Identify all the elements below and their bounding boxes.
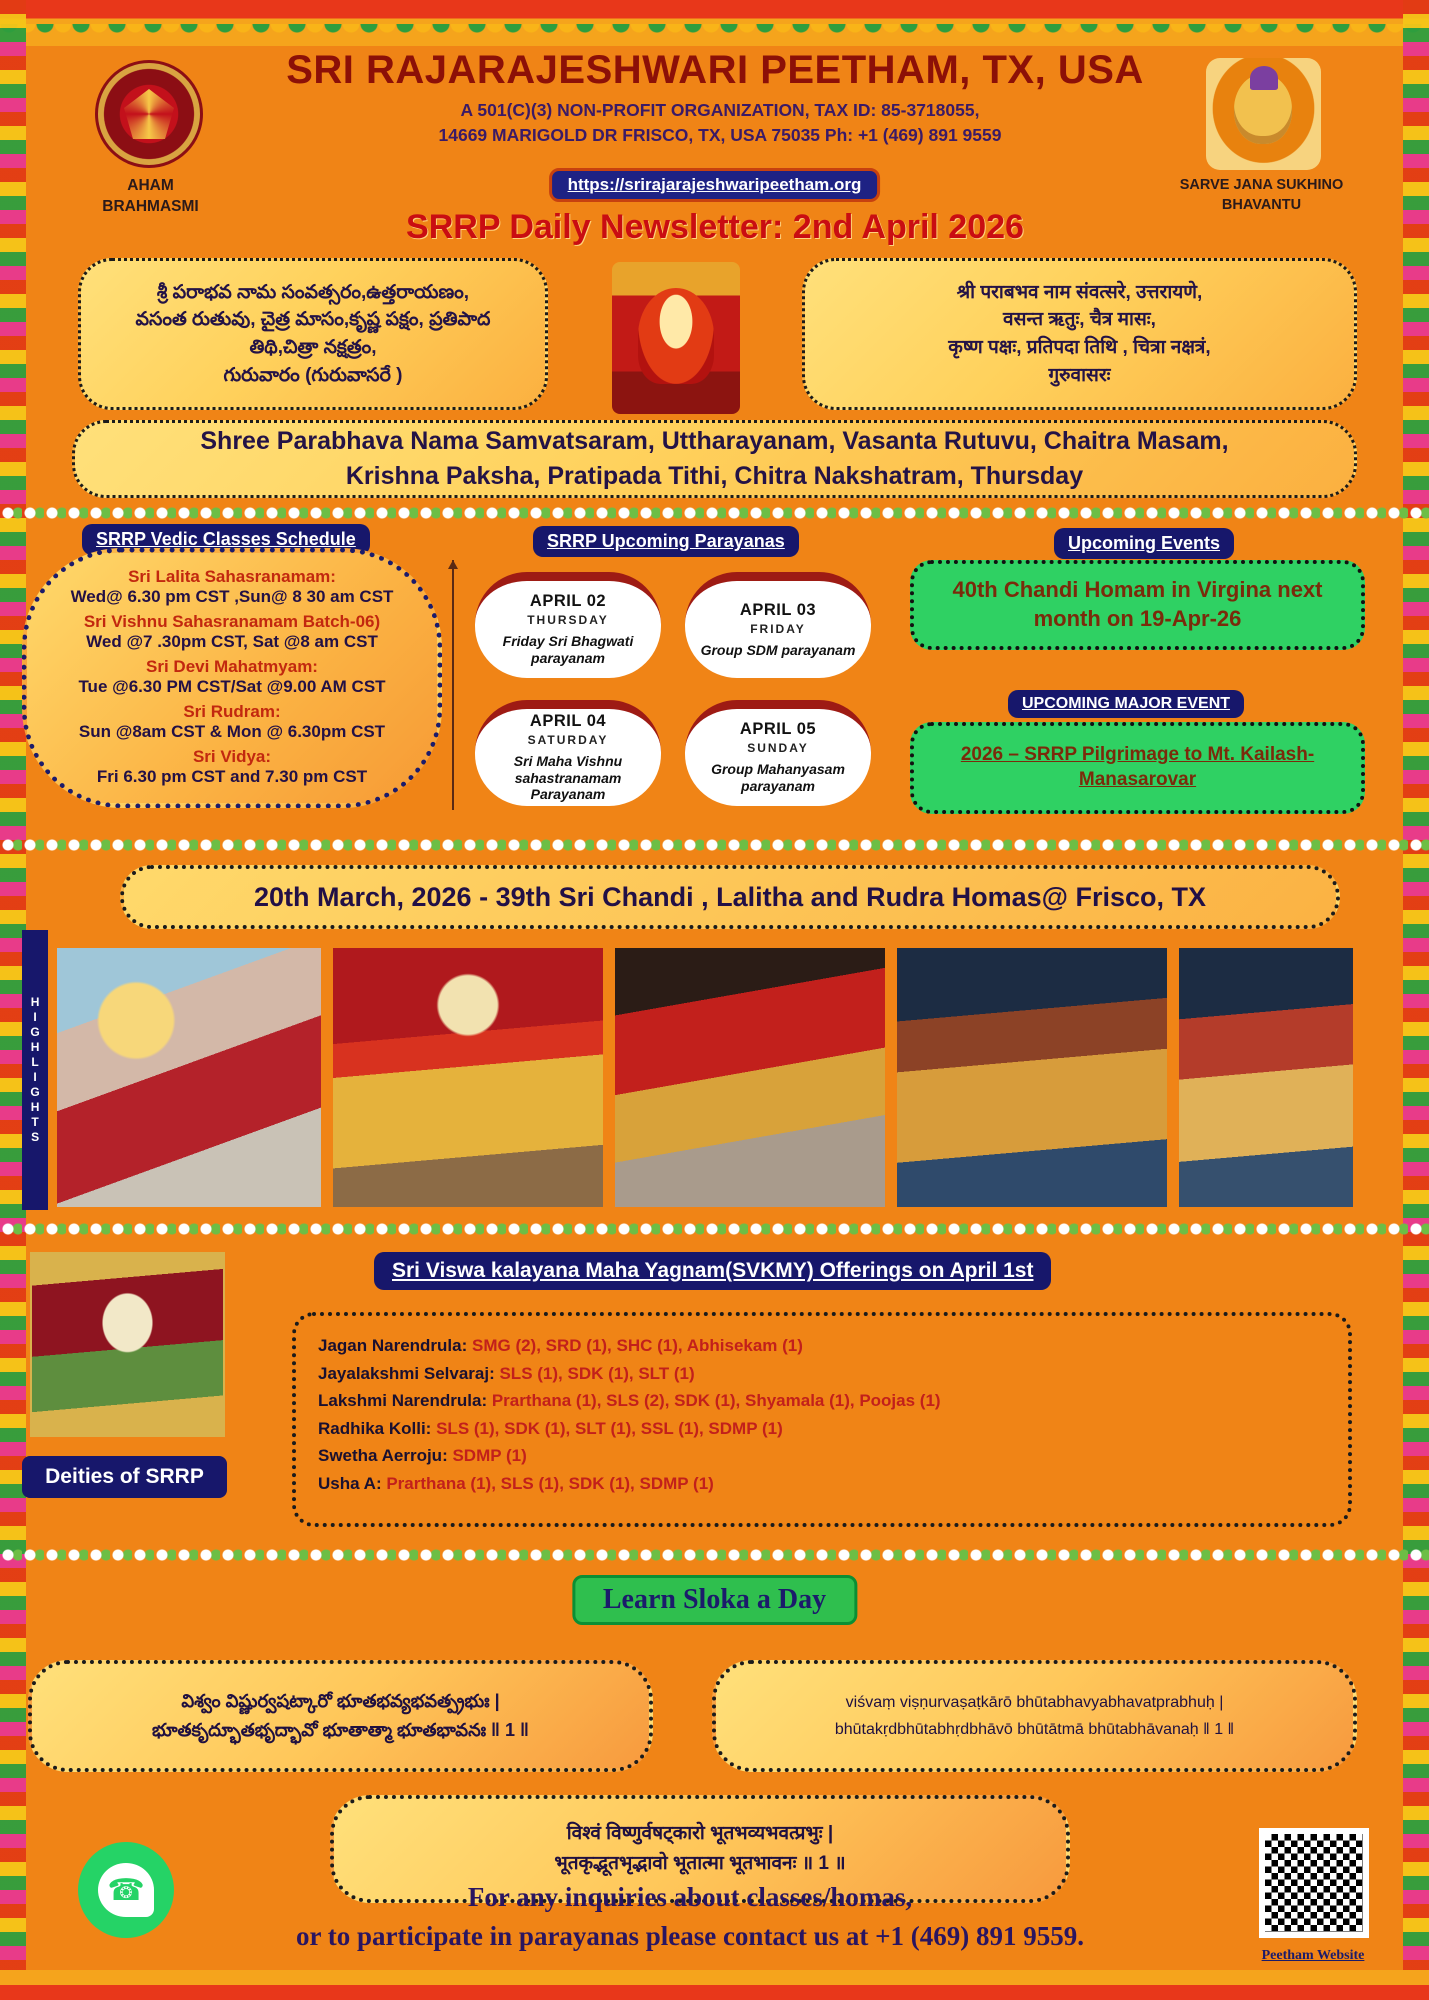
highlight-photo-5 — [1176, 945, 1356, 1210]
sloka-devanagari-line-1: विश्वं विष्णुर्वषट्कारो भूतभव्यभवत्प्रभु… — [567, 1819, 833, 1849]
top-toranam-decoration — [0, 0, 1429, 46]
telugu-line-3: తిథి,చిత్రా నక్షత్రం, — [136, 334, 491, 362]
vedic-item-1: Sri Vishnu Sahasranamam Batch-06) Wed @7… — [53, 612, 411, 652]
address-line: 14669 MARIGOLD DR FRISCO, TX, USA 75035 … — [200, 123, 1240, 148]
english-line-1: Shree Parabhava Nama Samvatsaram, Utthar… — [200, 424, 1228, 459]
offering-items-0: SMG (2), SRD (1), SHC (1), Abhisekam (1) — [472, 1336, 803, 1355]
newsletter-title: SRRP Daily Newsletter: 2nd April 2026 — [250, 208, 1180, 247]
parayana-day-1: FRIDAY — [750, 622, 806, 636]
parayana-date-0: APRIL 02 — [530, 592, 606, 611]
contact-line-2: or to participate in parayanas please co… — [190, 1917, 1190, 1956]
offering-name-2: Lakshmi Narendrula: — [318, 1391, 487, 1410]
panchangam-hindi-panel: श्री पराबभव नाम संवत्सरे, उत्तरायणे, वसन… — [802, 258, 1357, 410]
parayana-day-3: SUNDAY — [747, 741, 809, 755]
parayana-day-2: SATURDAY — [528, 733, 609, 747]
page-title: SRI RAJARAJESHWARI PEETHAM, TX, USA — [180, 48, 1250, 93]
english-line-2: Krishna Paksha, Pratipada Tithi, Chitra … — [200, 459, 1228, 494]
vedic-time-0: Wed@ 6.30 pm CST ,Sun@ 8 30 am CST — [53, 587, 411, 607]
sloka-roman-line-2: bhūtakṛdbhūtabhṛdbhāvō bhūtātmā bhūtabhā… — [835, 1716, 1234, 1743]
newsletter-page: AHAM BRAHMASMI SARVE JANA SUKHINO BHAVAN… — [0, 0, 1429, 2000]
flower-divider-4 — [0, 1548, 1429, 1563]
offering-row-4: Swetha Aerroju: SDMP (1) — [318, 1442, 1326, 1470]
highlight-photo-2 — [330, 945, 606, 1210]
highlights-banner: 20th March, 2026 - 39th Sri Chandi , Lal… — [120, 865, 1340, 929]
panchangam-english-panel: Shree Parabhava Nama Samvatsaram, Utthar… — [72, 420, 1357, 498]
parayana-section-divider — [452, 560, 454, 810]
highlights-side-text: HIGHLIGHTS — [27, 995, 43, 1145]
major-event-box[interactable]: 2026 – SRRP Pilgrimage to Mt. Kailash-Ma… — [910, 722, 1365, 814]
qr-code-label: Peetham Website — [1245, 1948, 1381, 1964]
offering-items-5: Prarthana (1), SLS (1), SDK (1), SDMP (1… — [386, 1474, 713, 1493]
svkmy-offerings-box: Jagan Narendrula: SMG (2), SRD (1), SHC … — [292, 1312, 1352, 1527]
vedic-time-2: Tue @6.30 PM CST/Sat @9.00 AM CST — [53, 677, 411, 697]
offering-items-4: SDMP (1) — [452, 1446, 526, 1465]
contact-line-1: For any inquiries about classes/homas, — [190, 1878, 1190, 1917]
upcoming-event-text: 40th Chandi Homam in Virgina next month … — [932, 576, 1343, 633]
vedic-item-0: Sri Lalita Sahasranamam: Wed@ 6.30 pm CS… — [53, 567, 411, 607]
offering-name-4: Swetha Aerroju: — [318, 1446, 448, 1465]
website-link[interactable]: https://srirajarajeshwaripeetham.org — [549, 168, 881, 202]
flower-divider-3 — [0, 1222, 1429, 1237]
bottom-decorative-strip — [0, 1970, 1429, 2000]
mango-leaf-row — [0, 24, 1429, 48]
aham-line1: AHAM — [78, 176, 223, 197]
parayana-text-1: Group SDM parayanam — [701, 642, 856, 659]
tax-line: A 501(C)(3) NON-PROFIT ORGANIZATION, TAX… — [200, 98, 1240, 123]
panchangam-telugu-panel: శ్రీ పరాభవ నామ సంవత్సరం,ఉత్తరాయణం, వసంత … — [78, 258, 548, 410]
offering-row-3: Radhika Kolli: SLS (1), SDK (1), SLT (1)… — [318, 1415, 1326, 1443]
upcoming-event-box: 40th Chandi Homam in Virgina next month … — [910, 560, 1365, 650]
hindi-line-2: वसन्त ऋतुः, चैत्र मासः, — [948, 306, 1210, 334]
highlight-photo-1 — [54, 945, 324, 1210]
vedic-name-3: Sri Rudram: — [53, 702, 411, 722]
offering-row-1: Jayalakshmi Selvaraj: SLS (1), SDK (1), … — [318, 1360, 1326, 1388]
telugu-line-4: గురువారం (గురువాసరే ) — [136, 362, 491, 390]
parayana-text-3: Group Mahanyasam parayanam — [695, 761, 861, 795]
vedic-name-1: Sri Vishnu Sahasranamam Batch-06) — [53, 612, 411, 632]
offering-row-5: Usha A: Prarthana (1), SLS (1), SDK (1),… — [318, 1470, 1326, 1498]
aham-brahmasmi-caption: AHAM BRAHMASMI — [78, 176, 223, 218]
whatsapp-icon[interactable]: ☎ — [78, 1842, 174, 1938]
offering-items-3: SLS (1), SDK (1), SLT (1), SSL (1), SDMP… — [436, 1419, 783, 1438]
offering-items-2: Prarthana (1), SLS (2), SDK (1), Shyamal… — [492, 1391, 941, 1410]
sloka-telugu-line-1: విశ్వం విష్ణుర్వషట్కారో భూతభవ్యభవత్ప్రభు… — [181, 1687, 499, 1716]
offering-name-3: Radhika Kolli: — [318, 1419, 431, 1438]
sloka-roman-line-1: viśvaṃ viṣṇurvaṣaṭkārō bhūtabhavyabhavat… — [846, 1689, 1224, 1716]
flower-divider-2 — [0, 838, 1429, 853]
contact-info: For any inquiries about classes/homas, o… — [190, 1878, 1190, 1956]
parayana-card-3[interactable]: APRIL 05 SUNDAY Group Mahanyasam parayan… — [685, 700, 871, 806]
parayana-card-0[interactable]: APRIL 02 THURSDAY Friday Sri Bhagwati pa… — [475, 572, 661, 678]
parayana-card-2[interactable]: APRIL 04 SATURDAY Sri Maha Vishnu sahast… — [475, 700, 661, 806]
highlight-photo-3 — [612, 945, 888, 1210]
sloka-roman-panel: viśvaṃ viṣṇurvaṣaṭkārō bhūtabhavyabhavat… — [712, 1660, 1357, 1772]
deity-image-center — [612, 262, 740, 414]
learn-sloka-button[interactable]: Learn Sloka a Day — [572, 1575, 857, 1625]
sarve-line1: SARVE JANA SUKHINO — [1154, 176, 1369, 196]
hindi-line-1: श्री पराबभव नाम संवत्सरे, उत्तरायणे, — [948, 279, 1210, 307]
parayana-card-1[interactable]: APRIL 03 FRIDAY Group SDM parayanam — [685, 572, 871, 678]
vedic-classes-box: Sri Lalita Sahasranamam: Wed@ 6.30 pm CS… — [22, 548, 442, 808]
sarve-jana-caption: SARVE JANA SUKHINO BHAVANTU — [1154, 176, 1369, 215]
offering-name-0: Jagan Narendrula: — [318, 1336, 467, 1355]
offering-row-0: Jagan Narendrula: SMG (2), SRD (1), SHC … — [318, 1332, 1326, 1360]
offering-items-1: SLS (1), SDK (1), SLT (1) — [499, 1364, 694, 1383]
vedic-time-4: Fri 6.30 pm CST and 7.30 pm CST — [53, 767, 411, 787]
major-event-text: 2026 – SRRP Pilgrimage to Mt. Kailash-Ma… — [932, 743, 1343, 792]
parayana-day-0: THURSDAY — [527, 613, 609, 627]
sloka-telugu-panel: విశ్వం విష్ణుర్వషట్కారో భూతభవ్యభవత్ప్రభు… — [28, 1660, 653, 1772]
hindi-line-3: कृष्ण पक्षः, प्रतिपदा तिथि , चित्रा नक्ष… — [948, 334, 1210, 362]
offering-row-2: Lakshmi Narendrula: Prarthana (1), SLS (… — [318, 1387, 1326, 1415]
vedic-time-3: Sun @8am CST & Mon @ 6.30pm CST — [53, 722, 411, 742]
parayana-date-2: APRIL 04 — [530, 712, 606, 731]
vedic-time-1: Wed @7 .30pm CST, Sat @8 am CST — [53, 632, 411, 652]
offering-name-5: Usha A: — [318, 1474, 382, 1493]
deities-label: Deities of SRRP — [22, 1456, 227, 1498]
aham-line2: BRAHMASMI — [78, 197, 223, 218]
flower-divider-1 — [0, 506, 1429, 521]
sarve-line2: BHAVANTU — [1154, 196, 1369, 216]
sloka-telugu-line-2: భూతకృద్భూతభృద్భావో భూతాత్మా భూతభావనః ‖ 1… — [152, 1716, 529, 1745]
vedic-item-2: Sri Devi Mahatmyam: Tue @6.30 PM CST/Sat… — [53, 657, 411, 697]
svkmy-badge: Sri Viswa kalayana Maha Yagnam(SVKMY) Of… — [374, 1252, 1051, 1290]
parayana-text-0: Friday Sri Bhagwati parayanam — [485, 633, 651, 667]
upcoming-events-badge: Upcoming Events — [1054, 528, 1234, 559]
vedic-name-2: Sri Devi Mahatmyam: — [53, 657, 411, 677]
vedic-item-4: Sri Vidya: Fri 6.30 pm CST and 7.30 pm C… — [53, 747, 411, 787]
major-event-badge: UPCOMING MAJOR EVENT — [1008, 690, 1244, 718]
deities-photo — [30, 1252, 225, 1437]
parayana-date-1: APRIL 03 — [740, 601, 816, 620]
upcoming-parayanas-badge: SRRP Upcoming Parayanas — [533, 526, 799, 557]
highlights-side-label: HIGHLIGHTS — [22, 930, 48, 1210]
parayana-date-3: APRIL 05 — [740, 720, 816, 739]
vedic-name-0: Sri Lalita Sahasranamam: — [53, 567, 411, 587]
hindi-line-4: गुरुवासरः — [948, 362, 1210, 390]
org-subtitle: A 501(C)(3) NON-PROFIT ORGANIZATION, TAX… — [200, 98, 1240, 149]
highlight-photo-4 — [894, 945, 1170, 1210]
telugu-line-2: వసంత రుతువు, చైత్ర మాసం,కృష్ణ పక్షం, ప్ర… — [136, 306, 491, 334]
telugu-line-1: శ్రీ పరాభవ నామ సంవత్సరం,ఉత్తరాయణం, — [136, 279, 491, 307]
parayana-text-2: Sri Maha Vishnu sahastranamam Parayanam — [485, 753, 651, 803]
right-decorative-rail — [1403, 0, 1429, 2000]
qr-code-icon[interactable] — [1259, 1828, 1369, 1938]
offering-name-1: Jayalakshmi Selvaraj: — [318, 1364, 495, 1383]
sloka-devanagari-line-2: भूतकृद्भूतभृद्भावो भूतात्मा भूतभावनः ॥ 1… — [554, 1849, 845, 1879]
highlights-banner-text: 20th March, 2026 - 39th Sri Chandi , Lal… — [254, 882, 1206, 913]
vedic-name-4: Sri Vidya: — [53, 747, 411, 767]
vedic-item-3: Sri Rudram: Sun @8am CST & Mon @ 6.30pm … — [53, 702, 411, 742]
whatsapp-bubble-glyph: ☎ — [98, 1863, 154, 1917]
